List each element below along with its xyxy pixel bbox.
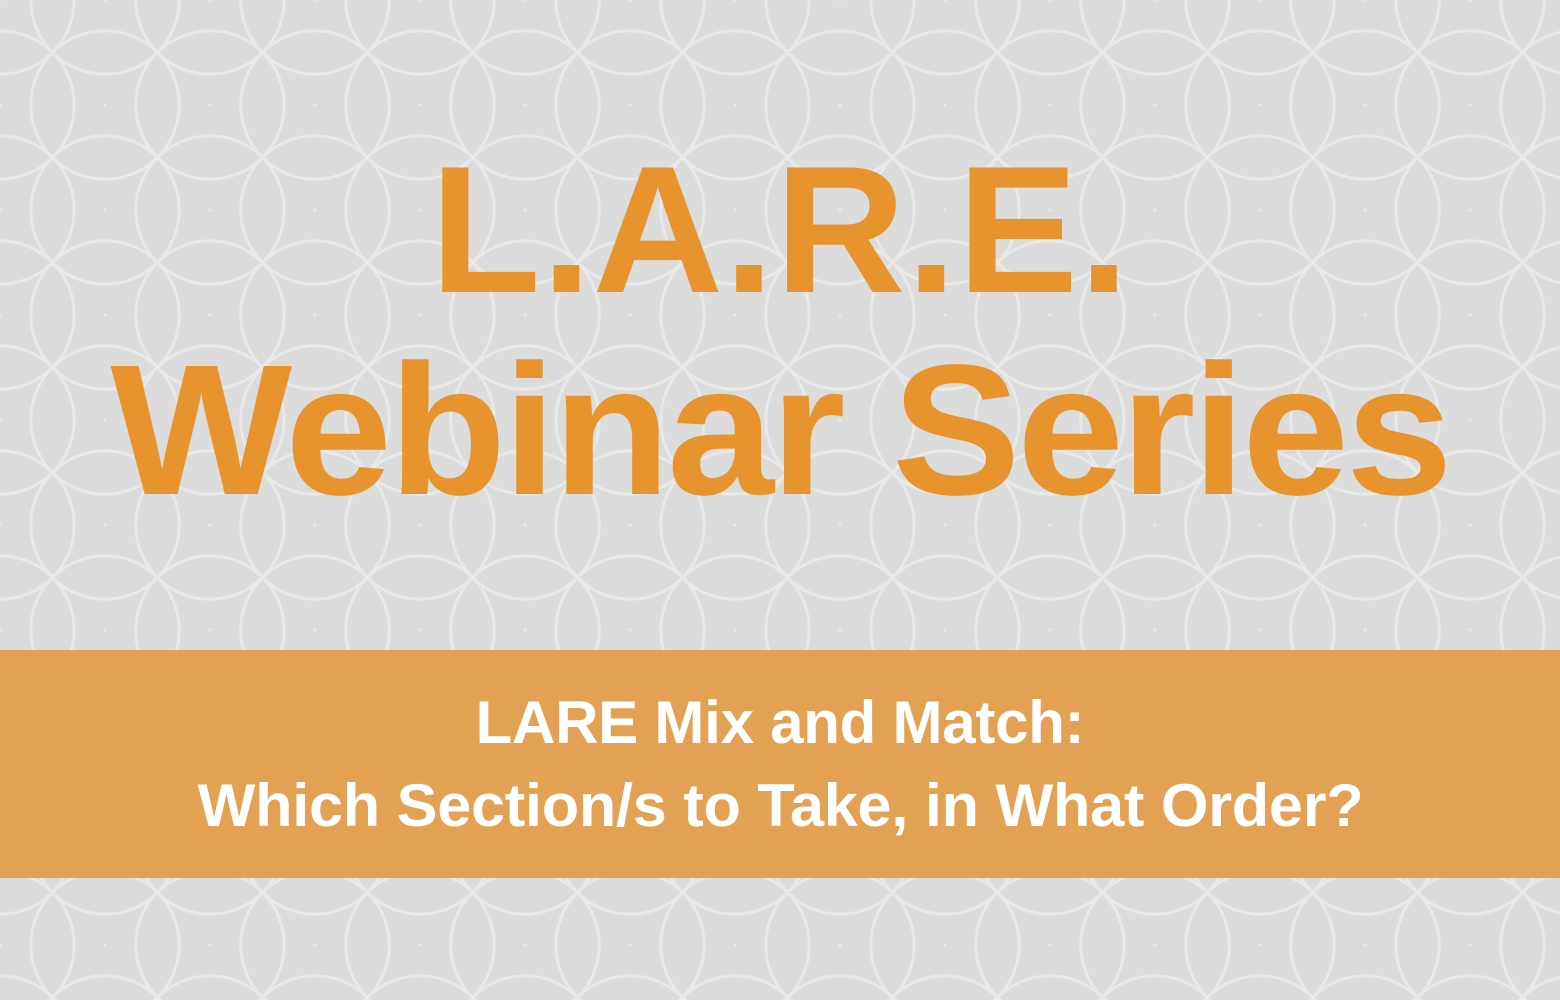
headline-block: L.A.R.E. Webinar Series bbox=[0, 0, 1560, 650]
session-title-banner: LARE Mix and Match: Which Section/s to T… bbox=[0, 650, 1560, 878]
webinar-title-slide: L.A.R.E. Webinar Series LARE Mix and Mat… bbox=[0, 0, 1560, 1000]
session-title-line-2: Which Section/s to Take, in What Order? bbox=[197, 775, 1363, 836]
session-title-line-1: LARE Mix and Match: bbox=[476, 692, 1085, 753]
page-title-acronym: L.A.R.E. bbox=[430, 144, 1130, 318]
page-title-subtitle: Webinar Series bbox=[111, 342, 1450, 521]
